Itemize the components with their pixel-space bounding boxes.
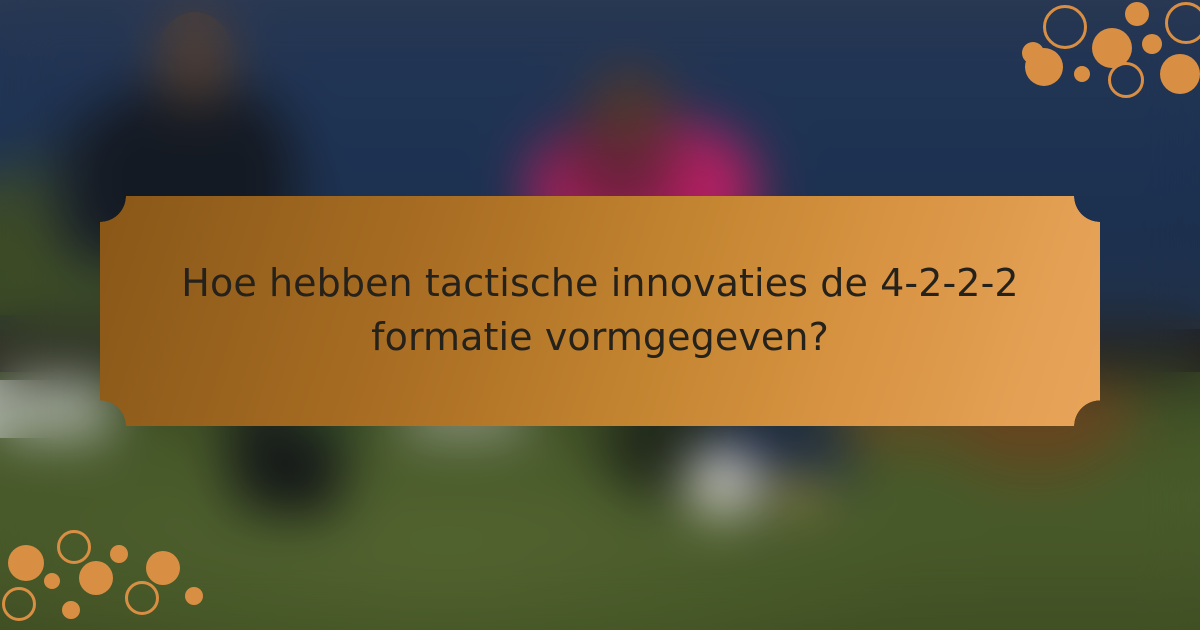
decorative-circle-solid-2 [110, 545, 128, 563]
decorative-circle-ring-7 [125, 581, 159, 615]
circle-cluster-bottom-left [0, 515, 210, 630]
title-banner: Hoe hebben tactische innovaties de 4-2-2… [100, 196, 1100, 426]
decorative-circle-solid-3 [146, 551, 180, 585]
decorative-circle-ring-6 [2, 587, 36, 621]
decorative-circle-ring-8 [1108, 62, 1144, 98]
circle-cluster-top-right [1000, 0, 1200, 110]
decorative-circle-solid-0 [8, 545, 44, 581]
decorative-circle-ring-3 [1165, 2, 1200, 44]
page-title: Hoe hebben tactische innovaties de 4-2-2… [100, 257, 1100, 365]
share-card-canvas: Hoe hebben tactische innovaties de 4-2-2… [0, 0, 1200, 630]
decorative-circle-solid-8 [62, 601, 80, 619]
decorative-circle-solid-9 [185, 587, 203, 605]
decorative-circle-solid-2 [1125, 2, 1149, 26]
decorative-circle-solid-9 [1160, 54, 1200, 94]
decorative-circle-solid-6 [1025, 48, 1063, 86]
decorative-circle-solid-4 [44, 573, 60, 589]
decorative-circle-ring-1 [1043, 5, 1087, 49]
decorative-circle-solid-5 [1142, 34, 1162, 54]
decorative-circle-solid-5 [79, 561, 113, 595]
decorative-circle-solid-7 [1074, 66, 1090, 82]
decorative-circle-ring-1 [57, 530, 91, 564]
